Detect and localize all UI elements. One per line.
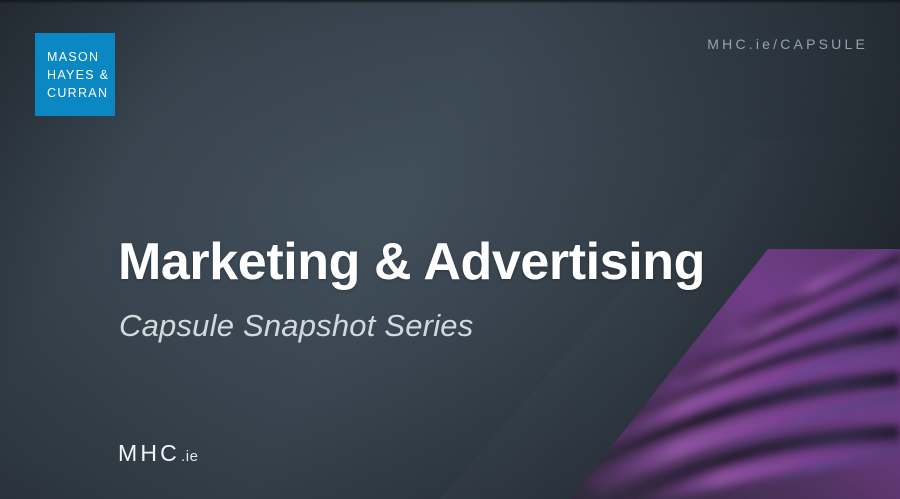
logo-line-3: CURRAN — [47, 84, 115, 102]
mhc-wordmark: MHC .ie — [118, 440, 199, 467]
slide-subtitle: Capsule Snapshot Series — [119, 308, 473, 344]
mhc-wordmark-main: MHC — [118, 440, 180, 467]
mason-hayes-curran-logo[interactable]: MASON HAYES & CURRAN — [35, 33, 115, 116]
mhc-wordmark-suffix: .ie — [181, 448, 199, 465]
background-top-edge — [0, 0, 900, 4]
slide-canvas: MASON HAYES & CURRAN MHC.ie/CAPSULE Mark… — [0, 0, 900, 499]
capsule-url-label: MHC.ie/CAPSULE — [707, 36, 868, 52]
slide-title: Marketing & Advertising — [118, 232, 705, 292]
logo-line-2: HAYES & — [47, 66, 115, 84]
logo-line-1: MASON — [47, 48, 115, 66]
